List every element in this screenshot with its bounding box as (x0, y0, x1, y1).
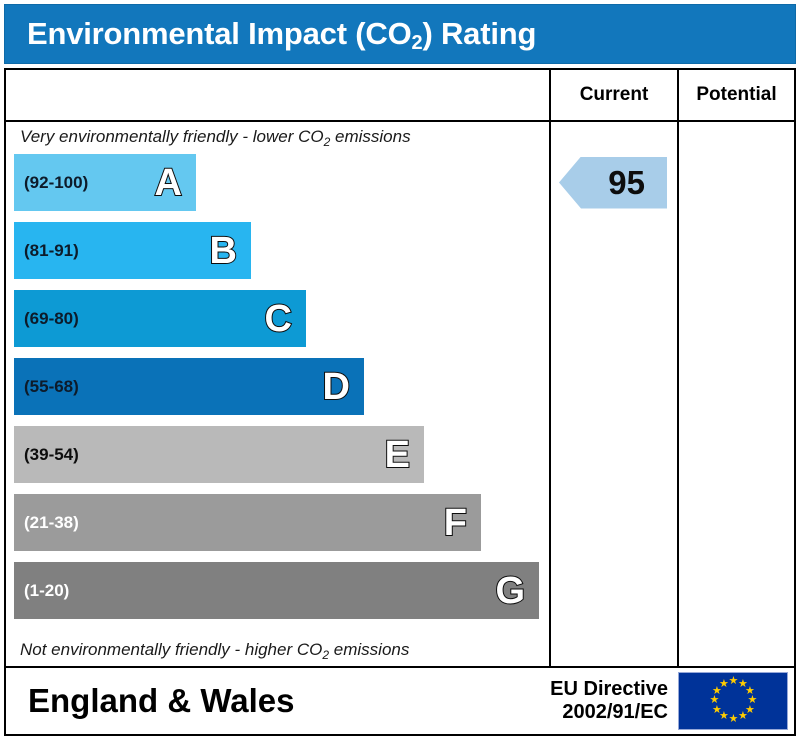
rating-band-b: (81-91)B (14, 222, 251, 279)
band-letter-label: D (323, 368, 350, 406)
footer-region-label: England & Wales (6, 682, 294, 720)
rating-band-g: (1-20)G (14, 562, 539, 619)
chart-area: Very environmentally friendly - lower CO… (6, 122, 547, 666)
rating-grid: Current Potential Very environmentally f… (4, 68, 796, 668)
band-range-label: (39-54) (14, 445, 79, 465)
rating-band-e: (39-54)E (14, 426, 424, 483)
band-bar: (1-20)G (14, 562, 539, 619)
current-rating-arrow: 95 (559, 157, 667, 209)
caption-bottom: Not environmentally friendly - higher CO… (20, 640, 409, 660)
band-bar: (39-54)E (14, 426, 424, 483)
caption-top-tail: emissions (330, 127, 410, 146)
footer-directive-group: EU Directive 2002/91/EC ★★★★★★★★★★★★ (550, 668, 788, 734)
band-range-label: (21-38) (14, 513, 79, 533)
column-header-current: Current (551, 70, 677, 120)
band-range-label: (69-80) (14, 309, 79, 329)
caption-top: Very environmentally friendly - lower CO… (20, 127, 411, 147)
page-title: Environmental Impact (CO2) Rating (5, 16, 536, 52)
band-bar: (69-80)C (14, 290, 306, 347)
rating-band-d: (55-68)D (14, 358, 364, 415)
caption-bottom-main: Not environmentally friendly - higher CO (20, 640, 322, 659)
eu-flag-star-icon: ★ (710, 696, 719, 705)
eu-flag-star-icon: ★ (738, 712, 747, 721)
band-bar: (55-68)D (14, 358, 364, 415)
band-letter-label: C (265, 300, 292, 338)
eu-flag-star-icon: ★ (729, 677, 738, 686)
footer-bar: England & Wales EU Directive 2002/91/EC … (4, 668, 796, 736)
band-range-label: (92-100) (14, 173, 88, 193)
band-bar: (81-91)B (14, 222, 251, 279)
rating-band-a: (92-100)A (14, 154, 196, 211)
band-range-label: (1-20) (14, 581, 69, 601)
column-header-potential: Potential (679, 70, 794, 120)
epc-environmental-impact-chart: Environmental Impact (CO2) Rating Curren… (0, 0, 800, 740)
page-title-subscript: 2 (412, 32, 423, 54)
eu-directive-line1: EU Directive (550, 678, 668, 701)
band-letter-label: E (385, 436, 410, 474)
caption-top-main: Very environmentally friendly - lower CO (20, 127, 324, 146)
band-list: (92-100)A(81-91)B(69-80)C(55-68)D(39-54)… (6, 154, 547, 632)
column-divider-current (549, 70, 551, 666)
eu-directive-line2: 2002/91/EC (550, 701, 668, 724)
title-bar: Environmental Impact (CO2) Rating (4, 4, 796, 64)
band-letter-label: B (210, 232, 237, 270)
caption-bottom-subscript: 2 (322, 648, 329, 662)
eu-flag-star-icon: ★ (719, 680, 728, 689)
column-divider-potential (677, 70, 679, 666)
band-bar: (21-38)F (14, 494, 481, 551)
page-title-tail: ) Rating (422, 16, 536, 51)
band-range-label: (55-68) (14, 377, 79, 397)
eu-flag-star-icon: ★ (729, 715, 738, 724)
band-range-label: (81-91) (14, 241, 79, 261)
eu-flag-star-icon: ★ (712, 706, 721, 715)
page-title-main: Environmental Impact (CO (27, 16, 412, 51)
rating-band-c: (69-80)C (14, 290, 306, 347)
eu-flag-icon: ★★★★★★★★★★★★ (678, 672, 788, 730)
caption-bottom-tail: emissions (329, 640, 409, 659)
band-letter-label: G (495, 572, 525, 610)
caption-top-subscript: 2 (324, 135, 331, 149)
eu-directive-text: EU Directive 2002/91/EC (550, 678, 678, 724)
band-letter-label: A (155, 164, 182, 202)
band-bar: (92-100)A (14, 154, 196, 211)
current-rating-value: 95 (608, 166, 645, 199)
rating-band-f: (21-38)F (14, 494, 481, 551)
band-letter-label: F (444, 504, 467, 542)
